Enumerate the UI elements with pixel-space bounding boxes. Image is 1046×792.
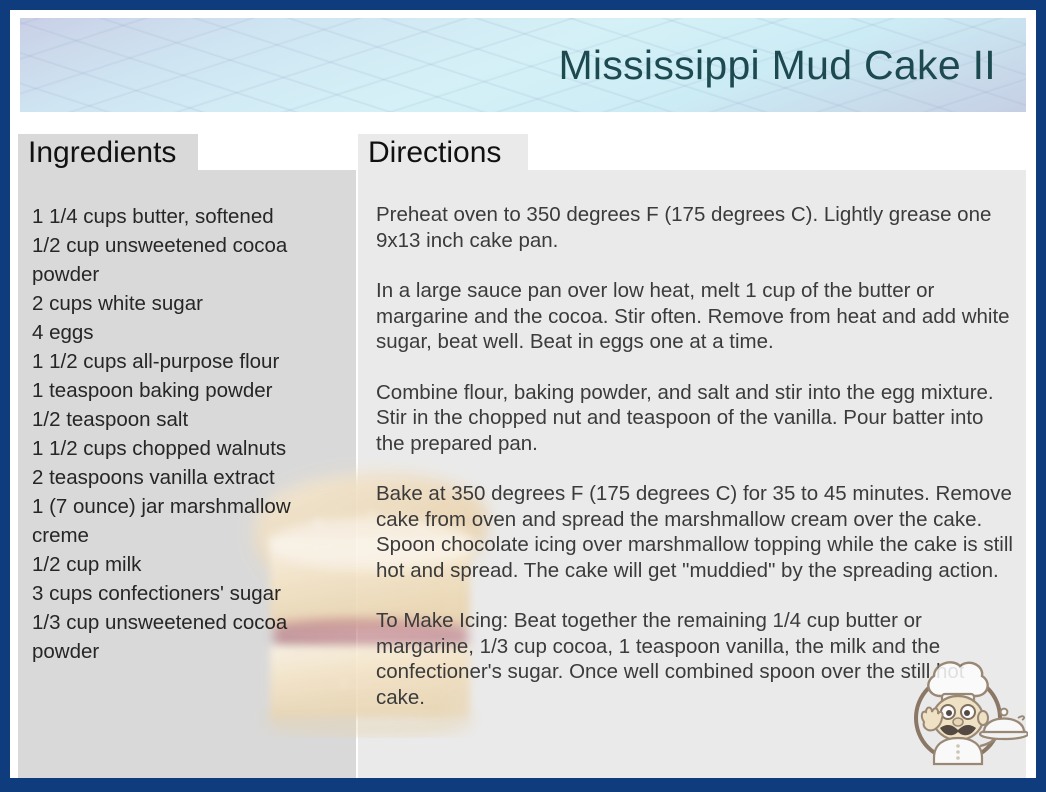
- list-item: 1/2 cup milk: [32, 550, 347, 579]
- recipe-card: Mississippi Mud Cake II Ingredients Dire…: [0, 0, 1046, 792]
- recipe-card-inner: Mississippi Mud Cake II Ingredients Dire…: [10, 10, 1036, 778]
- list-item: 1 teaspoon baking powder: [32, 376, 347, 405]
- direction-step: Bake at 350 degrees F (175 degrees C) fo…: [376, 481, 1016, 583]
- list-item: 4 eggs: [32, 318, 347, 347]
- direction-step: In a large sauce pan over low heat, melt…: [376, 278, 1016, 355]
- direction-step: Combine flour, baking powder, and salt a…: [376, 380, 1016, 457]
- direction-step: Preheat oven to 350 degrees F (175 degre…: [376, 202, 1016, 253]
- ingredients-heading: Ingredients: [28, 136, 176, 170]
- list-item: 1/3 cup unsweetened cocoa powder: [32, 608, 347, 666]
- directions-heading-tab: Directions: [358, 134, 528, 172]
- chef-logo-icon: [900, 652, 1028, 774]
- directions-heading: Directions: [368, 136, 501, 170]
- list-item: 1 1/2 cups chopped walnuts: [32, 434, 347, 463]
- list-item: 1 (7 ounce) jar marshmallow creme: [32, 492, 347, 550]
- page-title: Mississippi Mud Cake II: [558, 42, 1026, 89]
- list-item: 1/2 cup unsweetened cocoa powder: [32, 231, 347, 289]
- list-item: 2 cups white sugar: [32, 289, 347, 318]
- list-item: 1/2 teaspoon salt: [32, 405, 347, 434]
- list-item: 1 1/4 cups butter, softened: [32, 202, 347, 231]
- header-banner: Mississippi Mud Cake II: [20, 18, 1026, 112]
- ingredients-heading-tab: Ingredients: [18, 134, 198, 172]
- list-item: 1 1/2 cups all-purpose flour: [32, 347, 347, 376]
- list-item: 2 teaspoons vanilla extract: [32, 463, 347, 492]
- ingredients-list: 1 1/4 cups butter, softened 1/2 cup unsw…: [32, 202, 347, 666]
- list-item: 3 cups confectioners' sugar: [32, 579, 347, 608]
